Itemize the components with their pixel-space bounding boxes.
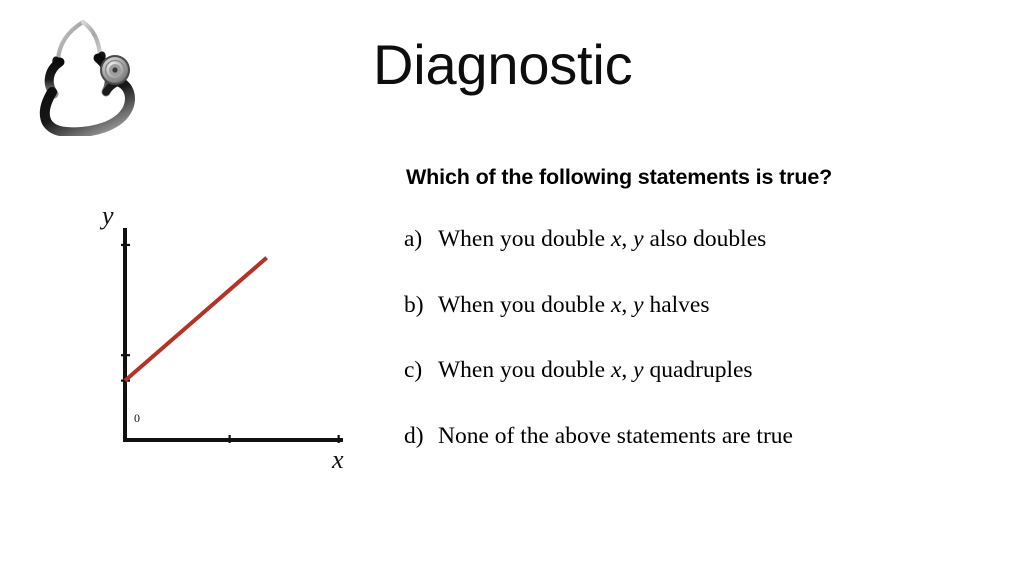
data-line-series (125, 258, 267, 381)
list-item[interactable]: a) When you double x, y also doubles (404, 226, 964, 253)
option-text: When you double x, y halves (438, 292, 710, 319)
option-text: None of the above statements are true (438, 423, 793, 450)
variable-y: y (633, 226, 643, 252)
answer-options-list: a) When you double x, y also doubles b) … (404, 226, 964, 450)
list-item[interactable]: d) None of the above statements are true (404, 423, 964, 450)
option-text: When you double x, y also doubles (438, 226, 766, 253)
origin-label: 0 (134, 411, 140, 425)
option-marker: c) (404, 357, 438, 384)
page-title: Diagnostic (373, 36, 632, 95)
stethoscope-icon (36, 8, 156, 136)
variable-x: x (611, 357, 621, 383)
list-item[interactable]: c) When you double x, y quadruples (404, 357, 964, 384)
x-axis-label: x (331, 445, 344, 474)
list-item[interactable]: b) When you double x, y halves (404, 292, 964, 319)
variable-y: y (633, 357, 643, 383)
line-graph: y x 0 (80, 190, 380, 485)
option-text: When you double x, y quadruples (438, 357, 753, 384)
option-marker: a) (404, 226, 438, 253)
variable-x: x (611, 226, 621, 252)
option-marker: d) (404, 423, 438, 450)
y-axis-label: y (99, 201, 114, 230)
question-prompt: Which of the following statements is tru… (406, 165, 832, 190)
option-marker: b) (404, 292, 438, 319)
variable-x: x (611, 292, 621, 318)
variable-y: y (633, 292, 643, 318)
